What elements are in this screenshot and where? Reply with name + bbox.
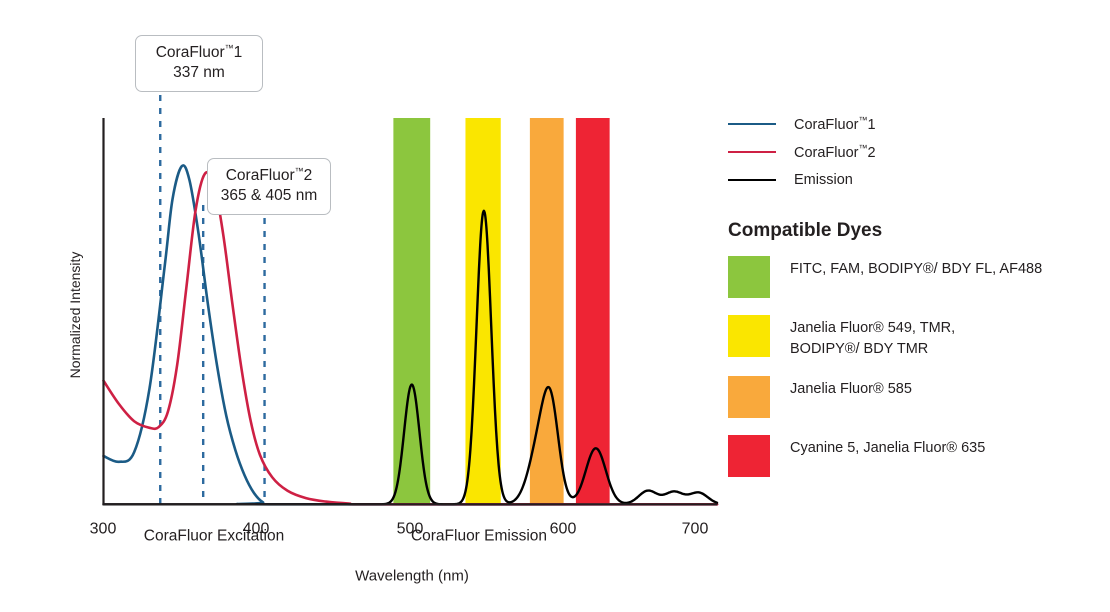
x-axis-title: Wavelength (nm): [355, 567, 469, 584]
legend-series-row-2: Emission: [728, 166, 1098, 194]
excitation-marker-group: [160, 95, 264, 504]
x-tick-label-600: 600: [550, 520, 577, 537]
callout-cf1-line1: CoraFluor™1: [148, 43, 250, 63]
legend-series-label: CoraFluor™1: [794, 115, 876, 133]
legend-series-label: Emission: [794, 172, 853, 188]
dye-color-swatch: [728, 315, 770, 357]
caption-emission: CoraFluor Emission: [411, 527, 547, 544]
dye-label: Janelia Fluor® 585: [790, 376, 912, 400]
callout-cf2-line1: CoraFluor™2: [220, 166, 318, 186]
dye-label-line1: Janelia Fluor® 585: [790, 379, 912, 400]
x-tick-label-700: 700: [682, 520, 709, 537]
legend-line-swatch: [728, 123, 776, 125]
dye-label-line2: BODIPY®/ BDY TMR: [790, 339, 955, 360]
callout-corafluor-1: CoraFluor™1 337 nm: [135, 35, 263, 92]
dye-label: Cyanine 5, Janelia Fluor® 635: [790, 435, 985, 459]
compatible-dyes-heading: Compatible Dyes: [728, 220, 1098, 242]
dye-color-swatch: [728, 376, 770, 418]
legend-series-index: 1: [867, 117, 875, 133]
legend-line-swatch: [728, 179, 776, 181]
legend-series-row-1: CoraFluor™2: [728, 138, 1098, 166]
dye-label-line1: Cyanine 5, Janelia Fluor® 635: [790, 438, 985, 459]
dye-color-swatch: [728, 435, 770, 477]
dye-row-3: Cyanine 5, Janelia Fluor® 635: [728, 435, 1098, 477]
legend-series-name: CoraFluor: [794, 117, 858, 133]
dye-color-swatch: [728, 256, 770, 298]
legend-panel: CoraFluor™1CoraFluor™2Emission Compatibl…: [728, 110, 1098, 494]
legend-line-swatch: [728, 151, 776, 153]
caption-excitation: CoraFluor Excitation: [144, 527, 284, 544]
series-legend: CoraFluor™1CoraFluor™2Emission: [728, 110, 1098, 194]
dye-label: FITC, FAM, BODIPY®/ BDY FL, AF488: [790, 256, 1042, 280]
callout-cf2-line2: 365 & 405 nm: [220, 186, 318, 206]
callout-cf1-line2: 337 nm: [148, 63, 250, 83]
dye-row-0: FITC, FAM, BODIPY®/ BDY FL, AF488: [728, 256, 1098, 298]
legend-series-row-0: CoraFluor™1: [728, 110, 1098, 138]
dye-label-line1: FITC, FAM, BODIPY®/ BDY FL, AF488: [790, 259, 1042, 280]
chart-figure: 300 400 500 600 700 CoraFluor Excitation…: [0, 0, 1110, 612]
green-band: [393, 118, 430, 504]
x-tick-label-300: 300: [90, 520, 117, 537]
legend-series-index: 2: [867, 145, 875, 161]
dye-label: Janelia Fluor® 549, TMR,BODIPY®/ BDY TMR: [790, 315, 955, 359]
y-axis-title: Normalized Intensity: [67, 252, 83, 379]
dye-row-2: Janelia Fluor® 585: [728, 376, 1098, 418]
dye-label-line1: Janelia Fluor® 549, TMR,: [790, 318, 955, 339]
emission-band-group: [393, 118, 609, 504]
red-band: [576, 118, 610, 504]
callout-corafluor-2: CoraFluor™2 365 & 405 nm: [207, 158, 331, 215]
compatible-dyes-list: FITC, FAM, BODIPY®/ BDY FL, AF488Janelia…: [728, 256, 1098, 477]
dye-row-1: Janelia Fluor® 549, TMR,BODIPY®/ BDY TMR: [728, 315, 1098, 359]
legend-series-label: CoraFluor™2: [794, 143, 876, 161]
legend-series-name: CoraFluor: [794, 145, 858, 161]
legend-series-name: Emission: [794, 172, 853, 188]
